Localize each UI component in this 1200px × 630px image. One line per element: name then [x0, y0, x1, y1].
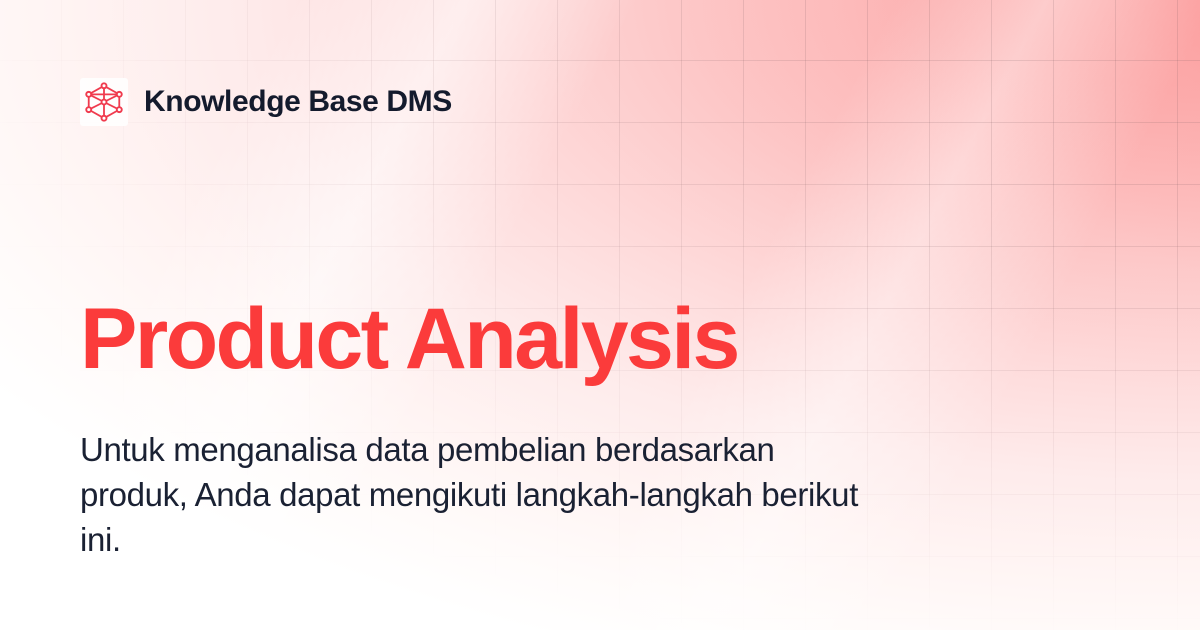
page-title: Product Analysis: [80, 296, 738, 382]
og-card-canvas: Knowledge Base DMS Product Analysis Untu…: [0, 0, 1200, 630]
card-content: Knowledge Base DMS Product Analysis Untu…: [0, 0, 1200, 630]
network-cube-icon: [80, 78, 128, 126]
brand-name: Knowledge Base DMS: [144, 87, 452, 117]
page-description: Untuk menganalisa data pembelian berdasa…: [80, 428, 880, 563]
brand-lockup: Knowledge Base DMS: [80, 76, 452, 128]
